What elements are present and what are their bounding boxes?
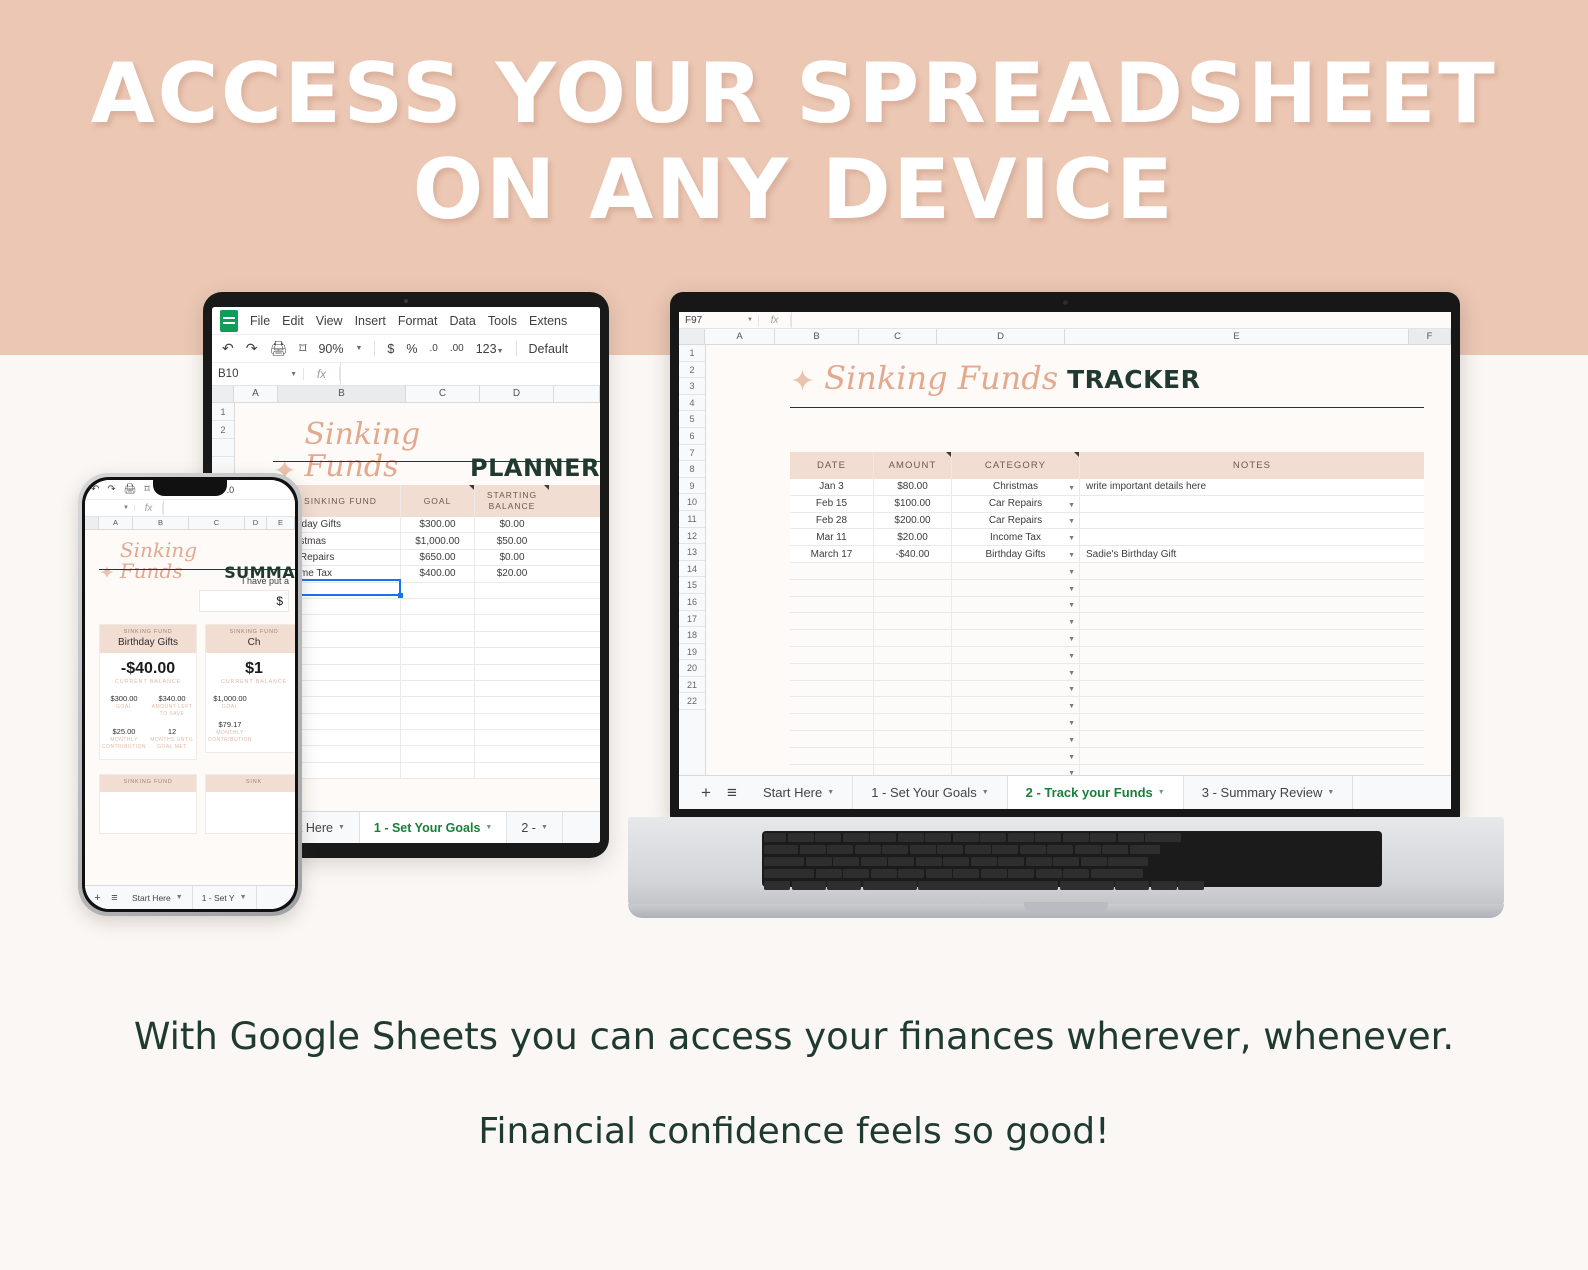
table-row [273, 697, 600, 713]
sheet-tab-2[interactable]: 2 -▼ [507, 812, 563, 844]
cell-date[interactable] [790, 563, 874, 579]
header-category: CATEGORY [952, 452, 1080, 479]
cell-amount[interactable]: $100.00 [874, 496, 952, 512]
cell-date[interactable] [790, 697, 874, 713]
row-number[interactable]: 20 [679, 660, 705, 677]
row-number[interactable]: 13 [679, 544, 705, 561]
cell-goal[interactable] [401, 632, 475, 647]
sparkle-icon: ✦ [790, 369, 815, 395]
table-row [273, 681, 600, 697]
fund-card-left [254, 694, 295, 711]
column-header-b[interactable]: B [133, 517, 189, 529]
fund-card-goal: $300.00GOAL [100, 694, 148, 718]
cell-starting-balance[interactable] [475, 714, 549, 729]
undo-icon[interactable]: ↶ [91, 484, 99, 495]
fund-card-goal-label: GOAL [100, 704, 148, 711]
font-selector[interactable]: Default [529, 342, 569, 356]
cell-date[interactable] [790, 731, 874, 747]
row-number[interactable]: 8 [679, 461, 705, 478]
chevron-down-icon: ▼ [541, 824, 548, 831]
laptop-tab-list: Start Here▼1 - Set Your Goals▼2 - Track … [745, 776, 1353, 810]
cell-starting-balance[interactable] [475, 599, 549, 614]
sheet-tab-1-set-y[interactable]: 1 - Set Y▼ [193, 886, 257, 910]
cell-goal[interactable] [401, 681, 475, 696]
column-header-e[interactable] [554, 386, 600, 402]
note-corner-icon [544, 485, 549, 490]
column-header-c[interactable]: C [189, 517, 245, 529]
chevron-down-icon: ▼ [485, 824, 492, 831]
cell-goal[interactable] [401, 648, 475, 663]
title-divider [273, 461, 600, 462]
chevron-down-icon: ▼ [1068, 754, 1075, 761]
row-number[interactable]: 14 [679, 561, 705, 578]
cell-starting-balance[interactable]: $20.00 [475, 566, 549, 581]
cell-starting-balance[interactable] [475, 746, 549, 761]
cell-starting-balance[interactable] [475, 583, 549, 598]
tablet-tab-list: Start Here▼1 - Set Your Goals▼2 -▼ [262, 812, 563, 844]
chevron-down-icon: ▼ [338, 824, 345, 831]
chevron-down-icon: ▼ [827, 789, 834, 796]
cell-category[interactable]: ▼ [952, 714, 1080, 730]
cell-category[interactable]: ▼ [952, 630, 1080, 646]
sheet-tab-label: 2 - [521, 821, 536, 835]
chevron-down-icon: ▼ [1068, 535, 1075, 542]
chevron-down-icon: ▼ [1068, 485, 1075, 492]
sheet-tab-start-here[interactable]: Start Here▼ [123, 886, 193, 910]
select-all-corner[interactable] [679, 329, 705, 344]
menu-insert[interactable]: Insert [355, 314, 386, 328]
fund-card-balance: $1 [206, 660, 295, 678]
cell-date[interactable]: Mar 11 [790, 529, 874, 545]
table-row: ▼ [790, 597, 1424, 614]
laptop-formula-input[interactable] [791, 312, 1451, 328]
laptop-sheet-tabs: + ≡ Start Here▼1 - Set Your Goals▼2 - Tr… [679, 775, 1451, 809]
undo-icon[interactable]: ↶ [222, 340, 234, 357]
all-sheets-icon[interactable]: ≡ [106, 886, 123, 910]
cell-date[interactable] [790, 597, 874, 613]
cell-notes[interactable] [1080, 580, 1424, 596]
caption-line-2: Financial confidence feels so good! [0, 1109, 1588, 1155]
cell-notes[interactable] [1080, 697, 1424, 713]
header-amount: AMOUNT [874, 452, 952, 479]
row-number[interactable]: 22 [679, 693, 705, 710]
cell-notes[interactable] [1080, 563, 1424, 579]
column-header-a[interactable]: A [234, 386, 278, 402]
cell-date[interactable]: March 17 [790, 546, 874, 562]
row-number[interactable]: 12 [679, 528, 705, 545]
row-number[interactable]: 16 [679, 594, 705, 611]
table-row: ▼ [790, 714, 1424, 731]
cell-goal[interactable]: $400.00 [401, 566, 475, 581]
row-number[interactable]: 10 [679, 494, 705, 511]
table-row: ▼ [790, 664, 1424, 681]
cell-starting-balance[interactable] [475, 615, 549, 630]
note-corner-icon [1074, 452, 1079, 457]
cell-notes[interactable] [1080, 714, 1424, 730]
menu-edit[interactable]: Edit [282, 314, 304, 328]
fund-card-months [254, 720, 295, 744]
cell-goal[interactable] [401, 697, 475, 712]
column-header-c[interactable]: C [406, 386, 480, 402]
phone-sheet-tabs: + ≡ Start Here▼1 - Set Y▼ [85, 885, 295, 909]
table-row: Mar 11$20.00Income Tax▼ [790, 529, 1424, 546]
row-number[interactable]: 19 [679, 644, 705, 661]
chevron-down-icon: ▼ [1068, 670, 1075, 677]
phone-formula-input[interactable] [163, 500, 295, 516]
cell-notes[interactable]: write important details here [1080, 479, 1424, 495]
menu-file[interactable]: File [250, 314, 270, 328]
table-row: ▼ [790, 630, 1424, 647]
cell-goal[interactable] [401, 714, 475, 729]
cell-starting-balance[interactable] [475, 632, 549, 647]
cell-amount[interactable]: $80.00 [874, 479, 952, 495]
sheet-tab-label: 2 - Track your Funds [1026, 785, 1153, 800]
fund-card: SINKING FUNDCh$1CURRENT BALANCE$1,000.00… [205, 624, 295, 753]
cell-amount[interactable] [874, 630, 952, 646]
page-title: Access Your Spreadsheet On Any Device [0, 46, 1588, 238]
cell-date[interactable] [790, 580, 874, 596]
cell-notes[interactable] [1080, 496, 1424, 512]
cell-date[interactable] [790, 681, 874, 697]
table-row: Jan 3$80.00Christmas▼write important det… [790, 479, 1424, 496]
row-number[interactable]: 18 [679, 627, 705, 644]
cell-starting-balance[interactable] [475, 730, 549, 745]
cell-amount[interactable] [874, 597, 952, 613]
sheet-tab-label: 3 - Summary Review [1202, 785, 1323, 800]
cell-starting-balance[interactable]: $0.00 [475, 517, 549, 532]
cell-category[interactable]: Income Tax▼ [952, 529, 1080, 545]
cell-category[interactable]: ▼ [952, 647, 1080, 663]
cell-amount[interactable]: $20.00 [874, 529, 952, 545]
cell-category[interactable]: Birthday Gifts▼ [952, 546, 1080, 562]
row-number[interactable]: 9 [679, 478, 705, 495]
cell-date[interactable]: Jan 3 [790, 479, 874, 495]
column-header-a[interactable]: A [705, 329, 775, 344]
percent-format-icon[interactable]: % [406, 342, 417, 356]
cell-notes[interactable] [1080, 647, 1424, 663]
cell-amount[interactable] [874, 681, 952, 697]
cell-starting-balance[interactable]: $50.00 [475, 533, 549, 548]
fund-card-monthly-row: $25.00MONTHLY CONTRIBUTION12MONTHS UNTIL… [100, 727, 196, 751]
cell-category[interactable]: ▼ [952, 597, 1080, 613]
cell-amount[interactable] [874, 714, 952, 730]
cell-category[interactable]: ▼ [952, 613, 1080, 629]
fund-card-header: SINKING FUNDCh [206, 625, 295, 653]
cell-category[interactable]: Car Repairs▼ [952, 513, 1080, 529]
number-format-label: 123 [476, 342, 497, 356]
cell-goal[interactable] [401, 730, 475, 745]
cell-notes[interactable]: Sadie's Birthday Gift [1080, 546, 1424, 562]
sheet-tab-label: 1 - Set Y [202, 893, 235, 903]
phone-device: ↶ ↷ 🖨 ⌑ 75% ▼ $ % .0 ▼ fx [78, 473, 302, 916]
decrease-decimal-icon[interactable]: .0 [227, 485, 235, 495]
table-row [273, 746, 600, 762]
cell-date[interactable] [790, 647, 874, 663]
header-goal-label: GOAL [424, 496, 452, 507]
fund-card-monthly-value: $79.17 [206, 720, 254, 729]
sheet-tab-label: 1 - Set Your Goals [374, 821, 481, 835]
cell-amount[interactable] [874, 731, 952, 747]
cell-starting-balance[interactable] [475, 648, 549, 663]
header-goal: GOAL [401, 485, 475, 517]
cell-goal[interactable] [401, 746, 475, 761]
menu-view[interactable]: View [316, 314, 343, 328]
column-header-d[interactable]: D [480, 386, 554, 402]
column-header-e[interactable]: E [267, 517, 295, 529]
all-sheets-icon[interactable]: ≡ [719, 776, 745, 810]
fund-card-empty: SINKING FUND [99, 774, 197, 834]
cell-amount[interactable]: $200.00 [874, 513, 952, 529]
cell-category[interactable]: ▼ [952, 563, 1080, 579]
fund-card-left: $340.00AMOUNT LEFT TO SAVE [148, 694, 196, 718]
footer-caption: With Google Sheets you can access your f… [0, 1014, 1588, 1155]
table-row: ▼ [790, 731, 1424, 748]
number-format-icon[interactable]: 123▼ [476, 342, 504, 356]
column-header-d[interactable]: D [245, 517, 267, 529]
table-row [273, 665, 600, 681]
cell-notes[interactable] [1080, 664, 1424, 680]
fund-card-monthly: $25.00MONTHLY CONTRIBUTION [100, 727, 148, 751]
chevron-down-icon: ▼ [1068, 653, 1075, 660]
sheet-tab-2-track-your-funds[interactable]: 2 - Track your Funds▼ [1008, 776, 1184, 810]
menu-extensions[interactable]: Extens [529, 314, 567, 328]
tablet-toolbar: ↶ ↷ 🖨 ⌑ 90% ▼ $ % .0 .00 123▼ Default [212, 335, 600, 363]
chevron-down-icon: ▼ [1158, 789, 1165, 796]
print-icon[interactable]: 🖨 [269, 340, 287, 357]
paint-format-icon[interactable]: ⌑ [144, 484, 149, 495]
zoom-selector[interactable]: 90% ▼ [318, 342, 362, 356]
fund-card-months: 12MONTHS UNTIL GOAL MET [148, 727, 196, 751]
cell-category[interactable]: ▼ [952, 731, 1080, 747]
row-number[interactable]: 7 [679, 445, 705, 462]
chevron-down-icon: ▼ [747, 317, 753, 323]
header-amount-label: AMOUNT [889, 460, 937, 471]
cell-goal[interactable] [401, 599, 475, 614]
phone-bezel: ↶ ↷ 🖨 ⌑ 75% ▼ $ % .0 ▼ fx [82, 477, 298, 912]
table-row [273, 730, 600, 746]
row-number[interactable]: 2 [212, 421, 234, 439]
cell-category[interactable]: ▼ [952, 697, 1080, 713]
sheet-tab-label: Start Here [132, 893, 171, 903]
cell-category[interactable]: ▼ [952, 748, 1080, 764]
row-number[interactable]: 1 [679, 345, 705, 362]
headline-line-1: Access Your Spreadsheet [91, 45, 1498, 142]
cell-amount[interactable] [874, 647, 952, 663]
tracker-table-body: Jan 3$80.00Christmas▼write important det… [790, 479, 1424, 781]
planner-table-body: Birthday Gifts$300.00$0.00Christmas$1,00… [273, 517, 600, 779]
row-number[interactable]: 1 [212, 403, 234, 421]
chevron-down-icon: ▼ [1068, 720, 1075, 727]
cell-goal[interactable]: $1,000.00 [401, 533, 475, 548]
header-sinking-fund-label: SINKING FUND [304, 496, 377, 507]
header-starting-balance-label: STARTINGBALANCE [487, 490, 537, 512]
decrease-decimal-icon[interactable]: .0 [429, 343, 437, 354]
cell-starting-balance[interactable] [475, 681, 549, 696]
cell-notes[interactable] [1080, 731, 1424, 747]
put-value-cell[interactable]: $ [199, 590, 289, 612]
fx-icon: fx [304, 367, 340, 381]
cell-goal[interactable] [401, 583, 475, 598]
planner-title-block: PLANNER [470, 454, 600, 483]
cell-goal[interactable] [401, 763, 475, 778]
column-header-a[interactable]: A [99, 517, 133, 529]
chevron-down-icon: ▼ [1068, 602, 1075, 609]
cell-date[interactable] [790, 630, 874, 646]
cell-starting-balance[interactable] [475, 665, 549, 680]
fund-card-goal-label: GOAL [206, 704, 254, 711]
cell-notes[interactable] [1080, 748, 1424, 764]
cell-goal[interactable] [401, 665, 475, 680]
row-number[interactable]: 21 [679, 677, 705, 694]
column-header-d[interactable]: D [937, 329, 1065, 344]
cell-category[interactable]: Christmas▼ [952, 479, 1080, 495]
phone-formula-bar: ▼ fx [85, 500, 295, 517]
cell-notes[interactable] [1080, 513, 1424, 529]
row-number[interactable]: 5 [679, 411, 705, 428]
menu-data[interactable]: Data [449, 314, 475, 328]
cell-amount[interactable] [874, 563, 952, 579]
cell-amount[interactable] [874, 748, 952, 764]
sheet-tab-1-set-your-goals[interactable]: 1 - Set Your Goals▼ [360, 812, 507, 844]
phone-cell-reference[interactable]: ▼ [85, 505, 135, 511]
row-number[interactable]: 15 [679, 577, 705, 594]
row-number[interactable]: 3 [679, 378, 705, 395]
cell-date[interactable] [790, 664, 874, 680]
chevron-down-icon: ▼ [497, 348, 504, 355]
cell-date[interactable] [790, 714, 874, 730]
fund-card-goal-row: $1,000.00GOAL [206, 694, 295, 711]
chevron-down-icon: ▼ [982, 789, 989, 796]
sheet-tab-start-here[interactable]: Start Here▼ [745, 776, 853, 810]
headline-line-2: On Any Device [0, 142, 1588, 238]
row-number[interactable] [212, 439, 234, 457]
cell-notes[interactable] [1080, 529, 1424, 545]
paint-format-icon[interactable]: ⌑ [299, 340, 306, 357]
cell-amount[interactable]: -$40.00 [874, 546, 952, 562]
cell-notes[interactable] [1080, 630, 1424, 646]
tablet-formula-bar: B10 ▼ fx [212, 363, 600, 386]
fund-card-monthly-value: $25.00 [100, 727, 148, 736]
cell-notes[interactable] [1080, 681, 1424, 697]
cell-category[interactable]: ▼ [952, 580, 1080, 596]
cell-date[interactable]: Feb 15 [790, 496, 874, 512]
fx-icon: fx [135, 503, 163, 514]
currency-format-icon[interactable]: $ [387, 342, 394, 356]
fund-card-goal-value: $300.00 [100, 694, 148, 703]
cell-amount[interactable] [874, 664, 952, 680]
fund-card-empty: SINK [205, 774, 295, 834]
laptop-screen: F97 ▼ fx A B C D E F 123456789101112131 [679, 312, 1451, 809]
tablet-formula-input[interactable] [340, 363, 600, 385]
laptop-base [628, 817, 1504, 909]
cell-amount[interactable] [874, 613, 952, 629]
cell-date[interactable] [790, 748, 874, 764]
laptop-camera-icon [1063, 300, 1068, 305]
cell-notes[interactable] [1080, 613, 1424, 629]
row-number[interactable]: 4 [679, 395, 705, 412]
column-header-c[interactable]: C [859, 329, 937, 344]
cell-starting-balance[interactable] [475, 697, 549, 712]
fund-card-goal-row: $300.00GOAL$340.00AMOUNT LEFT TO SAVE [100, 694, 196, 718]
row-number[interactable]: 17 [679, 611, 705, 628]
redo-icon[interactable]: ↷ [107, 484, 115, 495]
tablet-cell-reference[interactable]: B10 ▼ [212, 368, 304, 380]
cell-category[interactable]: ▼ [952, 664, 1080, 680]
cell-amount[interactable] [874, 697, 952, 713]
row-number[interactable]: 6 [679, 428, 705, 445]
sheet-tab-3-summary-review[interactable]: 3 - Summary Review▼ [1184, 776, 1354, 810]
select-all-corner[interactable] [212, 386, 234, 402]
table-row [273, 763, 600, 779]
cell-date[interactable]: Feb 28 [790, 513, 874, 529]
cell-starting-balance[interactable] [475, 763, 549, 778]
cell-category[interactable]: ▼ [952, 681, 1080, 697]
tablet-cell-reference-value: B10 [218, 368, 238, 380]
add-sheet-icon[interactable]: + [693, 776, 719, 810]
cell-category[interactable]: Car Repairs▼ [952, 496, 1080, 512]
column-header-b[interactable]: B [278, 386, 406, 402]
row-number[interactable]: 2 [679, 362, 705, 379]
redo-icon[interactable]: ↷ [246, 340, 258, 357]
row-number[interactable]: 11 [679, 511, 705, 528]
column-header-f[interactable]: F [1409, 329, 1451, 344]
cell-goal[interactable] [401, 615, 475, 630]
fx-icon: fx [759, 315, 791, 326]
table-row [273, 615, 600, 631]
fund-card-header: SINKING FUNDBirthday Gifts [100, 625, 196, 653]
fund-card-label: SINK [206, 779, 295, 785]
select-all-corner[interactable] [85, 517, 99, 529]
table-row [273, 599, 600, 615]
add-sheet-icon[interactable]: + [89, 886, 106, 910]
laptop-cell-reference[interactable]: F97 ▼ [679, 315, 759, 326]
summary-title-script: Sinking Funds [120, 540, 219, 582]
table-row: ▼ [790, 647, 1424, 664]
chevron-down-icon: ▼ [1327, 789, 1334, 796]
planner-table: SINKING FUND GOAL STARTINGBALANCE [273, 485, 600, 779]
menu-format[interactable]: Format [398, 314, 438, 328]
toolbar-divider [374, 341, 375, 356]
tracker-title: ✦ Sinking Funds TRACKER [790, 361, 1200, 395]
column-header-e[interactable]: E [1065, 329, 1409, 344]
put-line-label: I have put a [242, 576, 289, 586]
table-row: ▼ [790, 697, 1424, 714]
increase-decimal-icon[interactable]: .00 [450, 343, 464, 354]
phone-screen: ↶ ↷ 🖨 ⌑ 75% ▼ $ % .0 ▼ fx [85, 480, 295, 909]
column-header-b[interactable]: B [775, 329, 859, 344]
fund-card-left-value: $340.00 [148, 694, 196, 703]
fund-card-name: Birthday Gifts [100, 637, 196, 648]
cell-amount[interactable] [874, 580, 952, 596]
header-notes: NOTES [1080, 452, 1424, 479]
cell-goal[interactable]: $650.00 [401, 550, 475, 565]
table-row: ▼ [790, 748, 1424, 765]
fund-card-name: Ch [206, 637, 295, 648]
sheet-tab-label: 1 - Set Your Goals [871, 785, 977, 800]
cell-date[interactable] [790, 613, 874, 629]
sheet-tab-1-set-your-goals[interactable]: 1 - Set Your Goals▼ [853, 776, 1007, 810]
header-starting-balance: STARTINGBALANCE [475, 485, 549, 517]
laptop-device: F97 ▼ fx A B C D E F 123456789101112131 [628, 292, 1504, 930]
menu-tools[interactable]: Tools [488, 314, 517, 328]
cell-notes[interactable] [1080, 597, 1424, 613]
note-corner-icon [946, 452, 951, 457]
cell-goal[interactable]: $300.00 [401, 517, 475, 532]
chevron-down-icon: ▼ [1068, 518, 1075, 525]
cell-starting-balance[interactable]: $0.00 [475, 550, 549, 565]
print-icon[interactable]: 🖨 [124, 484, 137, 495]
table-row [273, 632, 600, 648]
